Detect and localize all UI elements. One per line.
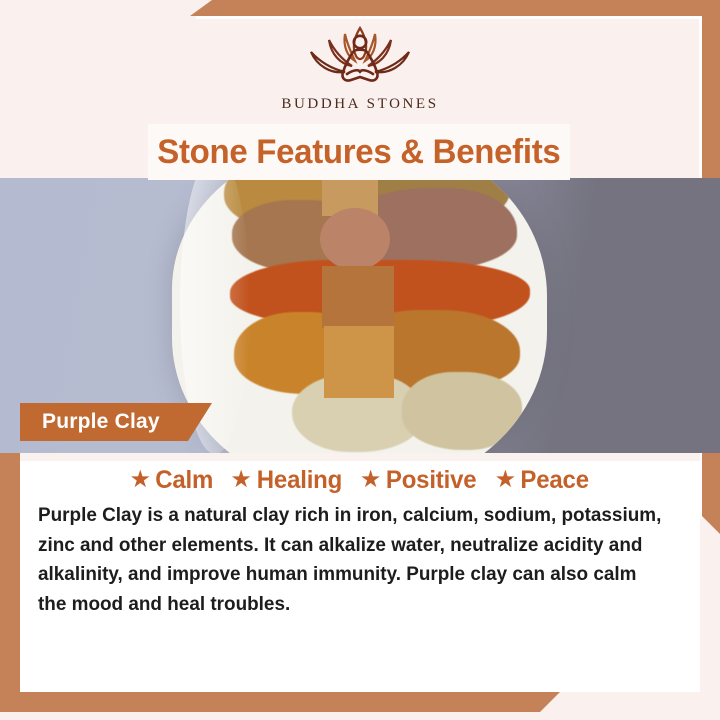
benefits-row: ★ Calm ★ Healing ★ Positive ★ Peace <box>20 461 700 499</box>
lotus-meditation-icon <box>285 22 435 90</box>
product-name-banner: Purple Clay <box>20 403 212 441</box>
frame-bottom-band <box>0 692 560 712</box>
page-title: Stone Features & Benefits <box>157 133 560 172</box>
star-icon: ★ <box>230 468 252 492</box>
benefit-item-positive: ★ Positive <box>360 466 479 495</box>
star-icon: ★ <box>360 468 382 492</box>
clay-chip <box>322 266 394 328</box>
brand-header: BUDDHA STONES <box>0 0 720 124</box>
benefit-label: Peace <box>521 466 589 495</box>
star-icon: ★ <box>130 468 152 492</box>
star-icon: ★ <box>495 468 517 492</box>
benefit-label: Healing <box>257 466 342 495</box>
benefit-item-healing: ★ Healing <box>230 466 343 495</box>
benefit-label: Positive <box>386 466 477 495</box>
white-dish <box>172 178 547 453</box>
brand-wordmark: BUDDHA STONES <box>281 96 438 113</box>
powder-patch <box>402 372 522 450</box>
content-card: ★ Calm ★ Healing ★ Positive ★ Peace Purp… <box>20 453 700 692</box>
brand-logo: BUDDHA STONES <box>281 22 438 113</box>
title-panel: Stone Features & Benefits <box>148 124 570 180</box>
product-name-label: Purple Clay <box>20 410 160 434</box>
benefit-item-calm: ★ Calm <box>130 466 215 495</box>
benefit-label: Calm <box>155 466 213 495</box>
card-top-tint <box>20 453 700 461</box>
poster-root: BUDDHA STONES Stone Features & Benefits <box>0 0 720 720</box>
benefit-item-peace: ★ Peace <box>495 466 591 495</box>
clay-chip <box>324 326 394 398</box>
clay-chip <box>320 208 390 270</box>
product-description: Purple Clay is a natural clay rich in ir… <box>38 501 669 620</box>
